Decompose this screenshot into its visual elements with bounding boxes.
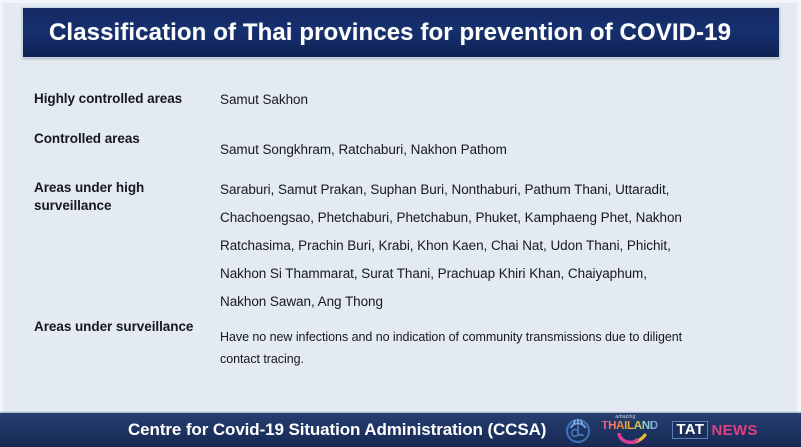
row-value-areas-under-high-surveillance: Saraburi, Samut Prakan, Suphan Buri, Non… [220,174,801,316]
footer-title: Centre for Covid-19 Situation Administra… [128,420,546,440]
row-label-controlled-areas: Controlled areas [0,130,220,148]
amazing-thailand-swoosh-icon [617,433,679,447]
table-row: Controlled areas Samut Songkhram, Ratcha… [0,130,801,164]
footer-logos: amazing THAILAND TAT NEWS [564,415,757,445]
amazing-thailand-logo: amazing THAILAND [601,415,663,445]
row-label-highly-controlled-areas: Highly controlled areas [0,86,220,108]
value-line: Samut Sakhon [220,86,801,114]
ccsa-emblem-icon [564,416,592,444]
value-line: Nakhon Sawan, Ang Thong [220,288,801,316]
table-row: Areas under high surveillance Saraburi, … [0,174,801,316]
value-line: Ratchasima, Prachin Buri, Krabi, Khon Ka… [220,232,801,260]
row-label-areas-under-surveillance: Areas under surveillance [0,318,220,336]
table-row: Highly controlled areas Samut Sakhon [0,86,801,114]
frame-edge-top [0,0,801,3]
amazing-thailand-wordmark: THAILAND [601,421,657,433]
page-title: Classification of Thai provinces for pre… [23,19,731,47]
value-line: Samut Songkhram, Ratchaburi, Nakhon Path… [220,136,801,164]
row-label-areas-under-high-surveillance: Areas under high surveillance [0,174,220,215]
slide: Classification of Thai provinces for pre… [0,0,801,447]
value-line: Chachoengsao, Phetchaburi, Phetchabun, P… [220,204,801,232]
table-row: Areas under surveillance Have no new inf… [0,318,801,370]
value-line: Nakhon Si Thammarat, Surat Thani, Prachu… [220,260,801,288]
value-line: Have no new infections and no indication… [220,326,801,348]
tat-news-logo: TAT NEWS [672,421,757,439]
title-bar: Classification of Thai provinces for pre… [22,7,780,58]
news-wordmark: NEWS [711,423,757,438]
row-value-controlled-areas: Samut Songkhram, Ratchaburi, Nakhon Path… [220,130,801,164]
classification-table: Highly controlled areas Samut Sakhon Con… [0,72,801,407]
row-value-areas-under-surveillance: Have no new infections and no indication… [220,318,801,370]
row-value-highly-controlled-areas: Samut Sakhon [220,86,801,114]
value-line: Saraburi, Samut Prakan, Suphan Buri, Non… [220,176,801,204]
footer-bar: Centre for Covid-19 Situation Administra… [0,413,801,447]
value-line: contact tracing. [220,348,801,370]
